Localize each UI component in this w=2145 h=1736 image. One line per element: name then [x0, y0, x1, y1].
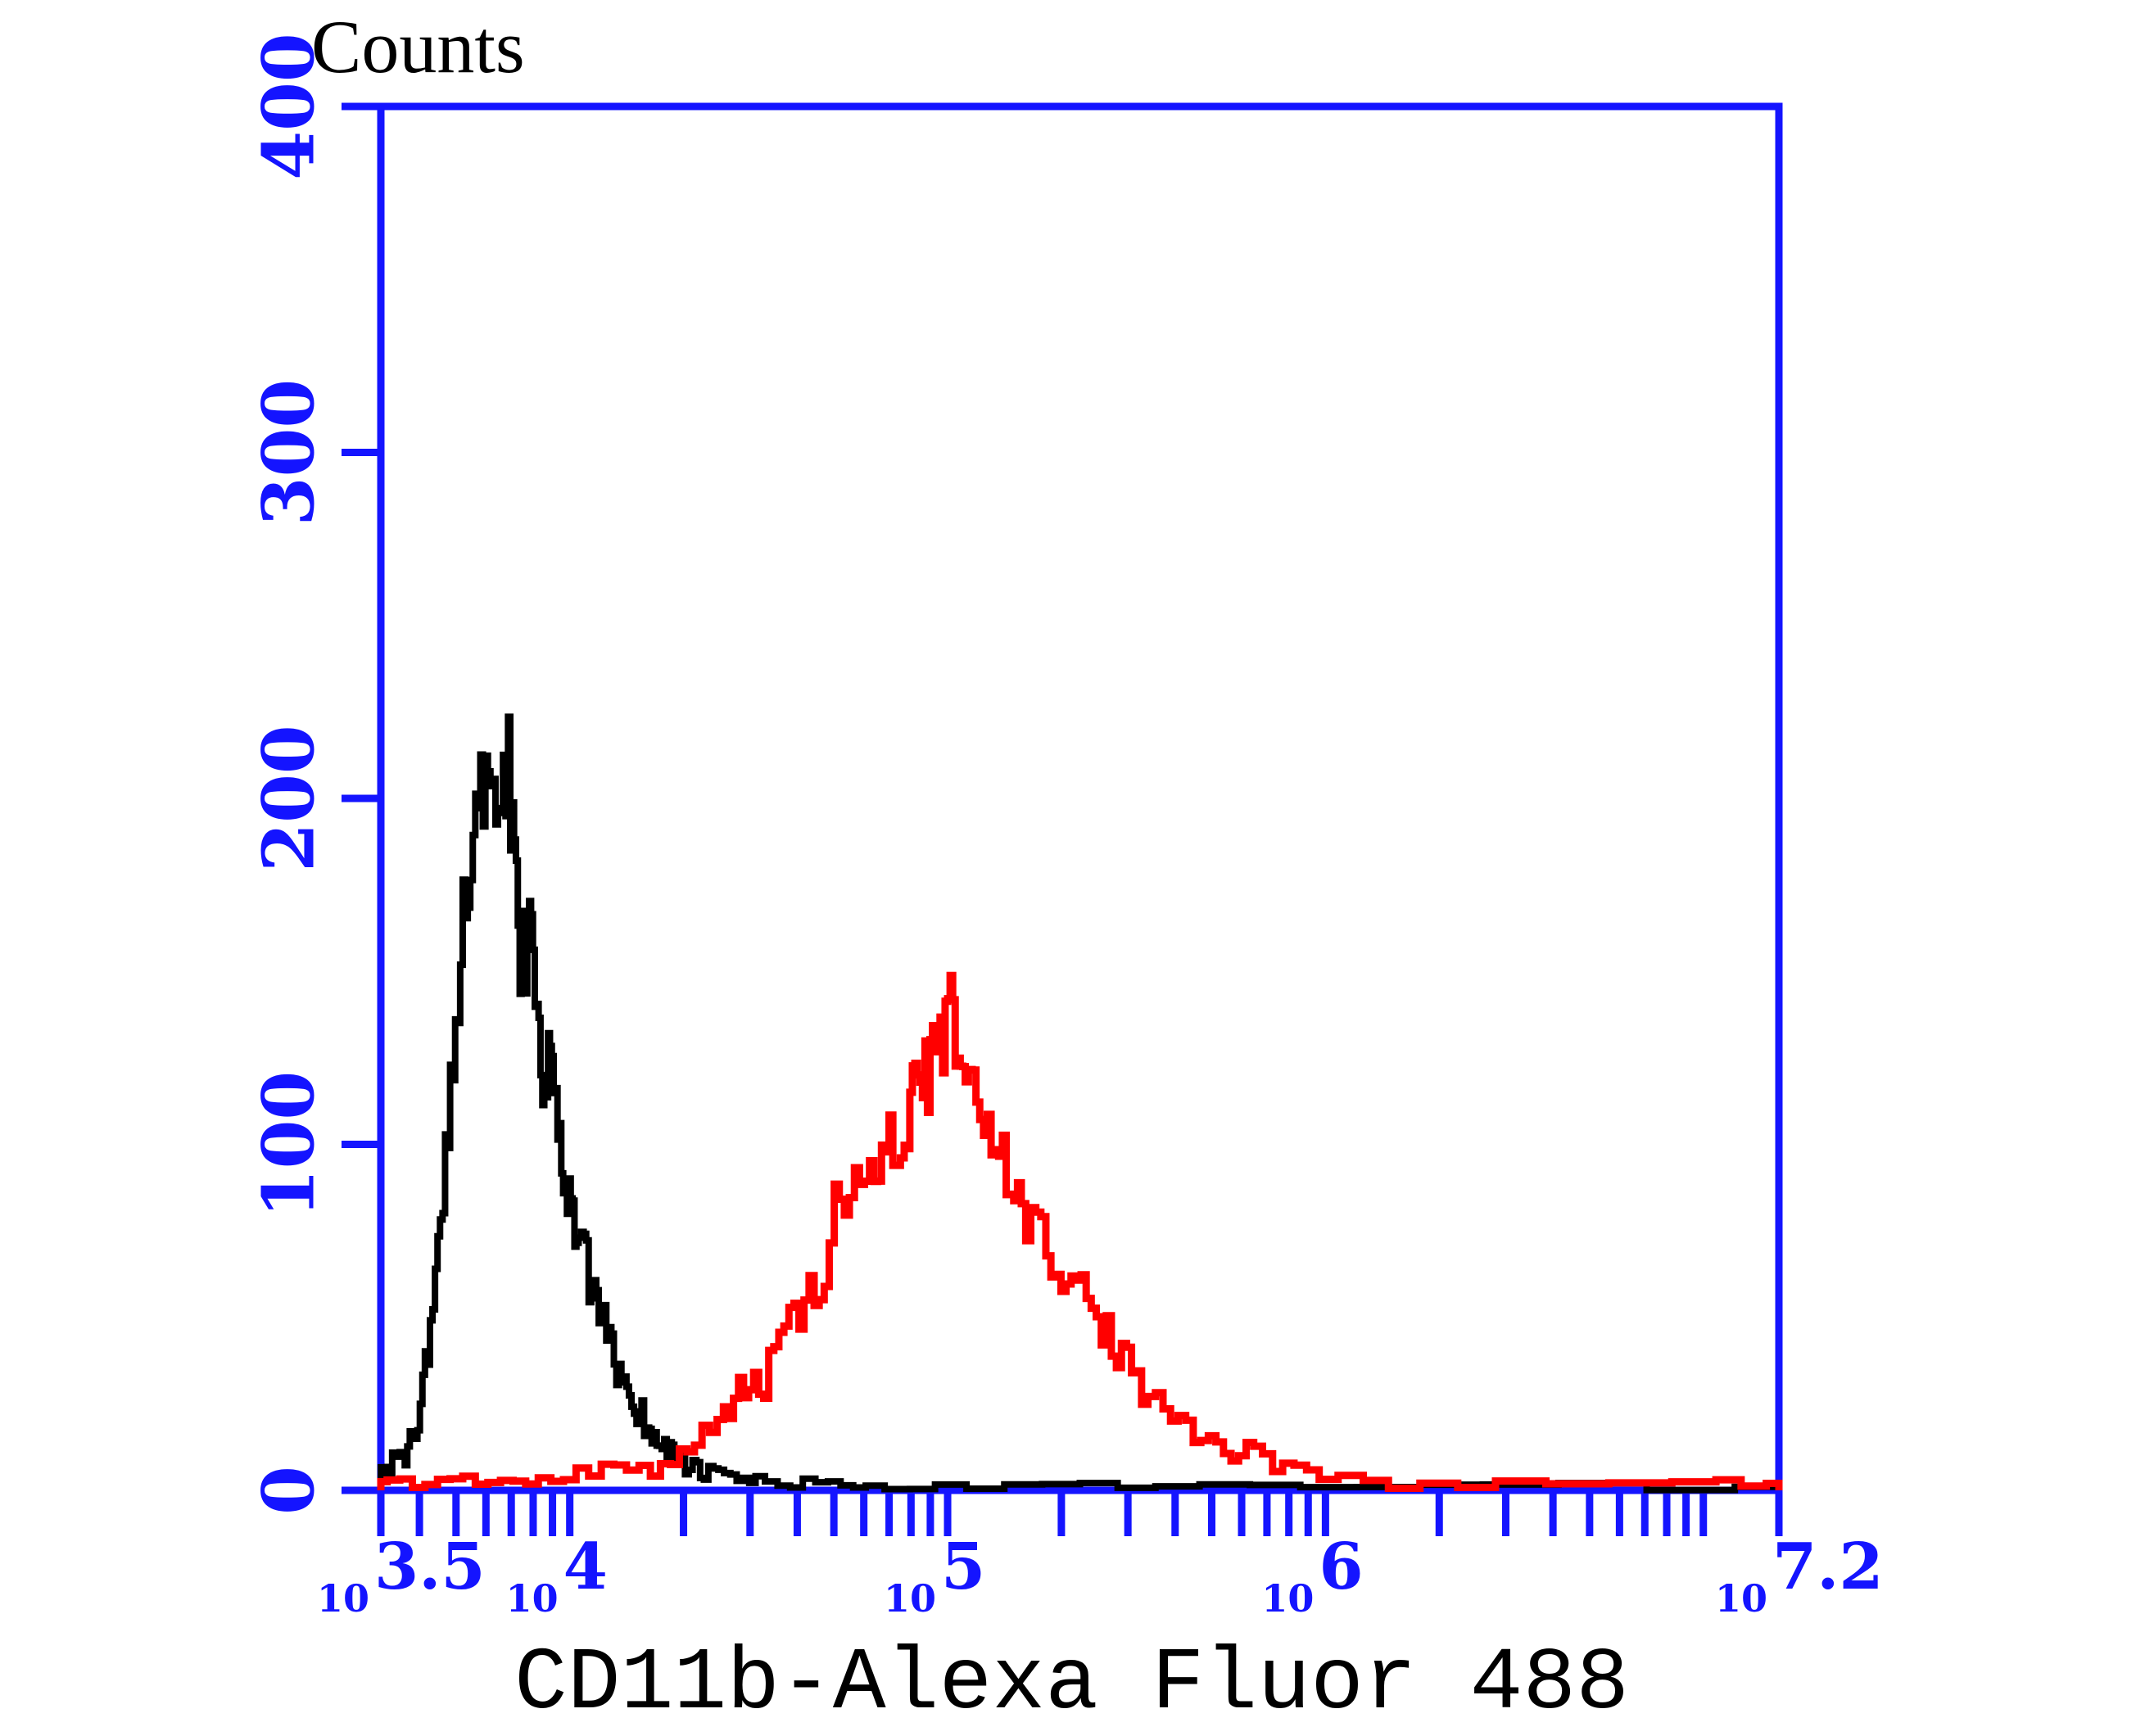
x-tick-label: 107.2 [1715, 1530, 1884, 1621]
x-tick-base: 10 [1715, 1576, 1767, 1621]
x-tick-label: 104 [506, 1530, 608, 1621]
x-tick-base: 10 [317, 1576, 369, 1621]
y-tick-label: 0 [248, 1466, 331, 1515]
histogram-trace [381, 717, 1779, 1490]
x-axis-title: CD11b-Alexa Fluor 488 [514, 1634, 1629, 1734]
y-axis-title: Counts [311, 5, 525, 88]
histogram-trace [381, 975, 1779, 1490]
y-axis-labels: 0100200300400 [248, 33, 331, 1515]
x-tick-label: 106 [1261, 1530, 1363, 1621]
x-tick-exponent: 5 [941, 1530, 985, 1604]
y-tick-label: 200 [248, 725, 331, 872]
x-tick-exponent: 6 [1319, 1530, 1363, 1604]
x-tick-base: 10 [1261, 1576, 1314, 1621]
x-tick-label: 105 [884, 1530, 985, 1621]
x-axis-labels: 103.5104105106107.2 [317, 1530, 1884, 1621]
chart-canvas: 0100200300400103.5104105106107.2CountsCD… [0, 0, 2145, 1736]
series-group [381, 717, 1779, 1490]
y-tick-label: 300 [248, 379, 331, 527]
x-tick-base: 10 [506, 1576, 559, 1621]
x-tick-base: 10 [884, 1576, 936, 1621]
flow-cytometry-histogram: 0100200300400103.5104105106107.2CountsCD… [0, 0, 2145, 1736]
x-tick-exponent: 7.2 [1772, 1530, 1884, 1604]
x-tick-label: 103.5 [317, 1530, 486, 1621]
y-tick-label: 100 [248, 1071, 331, 1218]
y-axis-ticks [342, 106, 381, 1490]
x-tick-exponent: 4 [563, 1530, 608, 1604]
x-tick-exponent: 3.5 [374, 1530, 486, 1604]
